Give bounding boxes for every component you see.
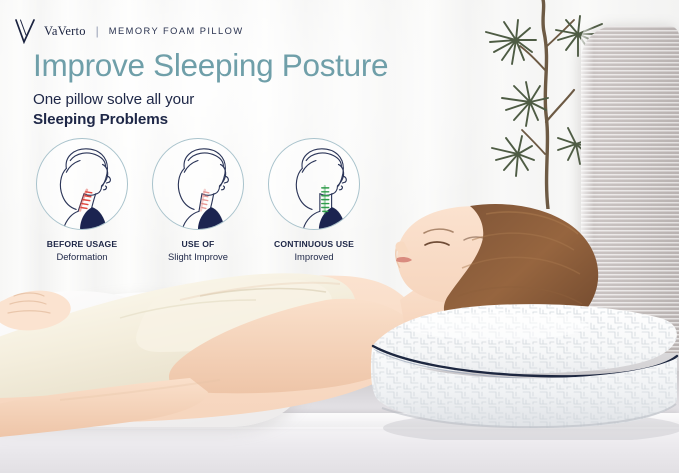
brand-name: VaVerto [44,24,86,39]
page-title: Improve Sleeping Posture [33,49,388,82]
step-title: USE OF [182,239,215,249]
product-line-label: MEMORY FOAM PILLOW [109,26,244,36]
brand-lockup: VaVerto | MEMORY FOAM PILLOW [14,18,244,44]
step-description: Deformation [56,251,107,262]
step-description: Slight Improve [168,251,228,262]
subheadline-line-2: Sleeping Problems [33,110,194,130]
posture-progression-diagram: BEFORE USAGE Deformation [36,138,360,262]
step-description: Improved [294,251,333,262]
step-title: CONTINUOUS USE [274,239,354,249]
memory-foam-pillow [368,300,679,440]
neck-posture-deformed-icon [36,138,128,230]
neck-posture-aligned-icon [268,138,360,230]
advertisement-canvas: VaVerto | MEMORY FOAM PILLOW Improve Sle… [0,0,679,473]
subheadline-line-1: One pillow solve all your [33,90,194,110]
step-before-usage: BEFORE USAGE Deformation [36,138,128,262]
step-use-of: USE OF Slight Improve [152,138,244,262]
subheadline: One pillow solve all your Sleeping Probl… [33,90,194,130]
step-title: BEFORE USAGE [47,239,118,249]
neck-posture-improving-icon [152,138,244,230]
step-continuous-use: CONTINUOUS USE Improved [268,138,360,262]
vaverto-v-monogram-icon [14,18,36,44]
brand-separator: | [96,24,99,38]
